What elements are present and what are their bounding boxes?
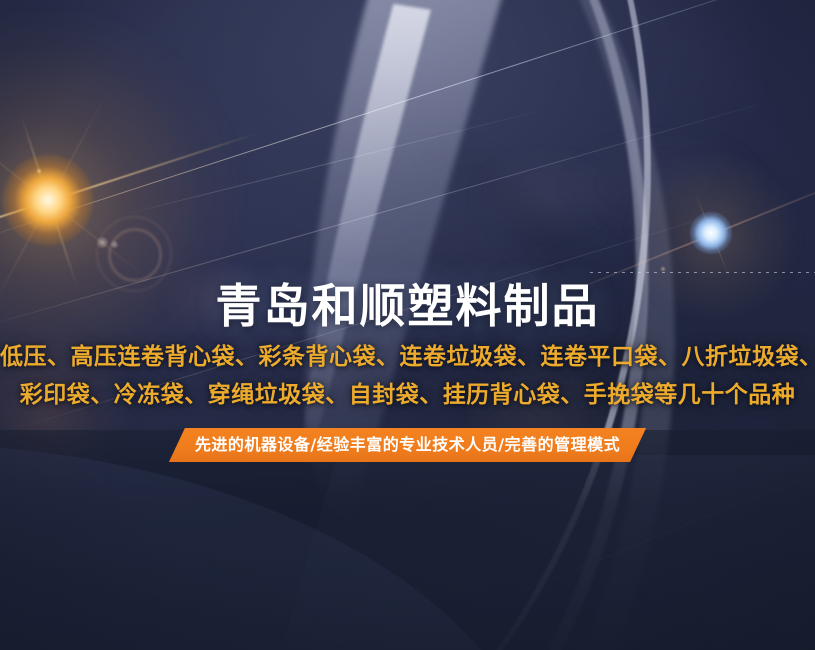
feature-badge-container: 先进的机器设备/经验丰富的专业技术人员/完善的管理模式 [0,428,815,462]
title-dotted-rule [590,272,815,273]
banner-content: 青岛和顺塑料制品 低压、高压连卷背心袋、彩条背心袋、连卷垃圾袋、连卷平口袋、八折… [0,0,815,650]
product-list-line-1: 低压、高压连卷背心袋、彩条背心袋、连卷垃圾袋、连卷平口袋、八折垃圾袋、 [0,338,815,376]
feature-badge: 先进的机器设备/经验丰富的专业技术人员/完善的管理模式 [169,428,646,462]
page-title: 青岛和顺塑料制品 [0,277,815,335]
product-list: 低压、高压连卷背心袋、彩条背心袋、连卷垃圾袋、连卷平口袋、八折垃圾袋、 彩印袋、… [0,338,815,414]
promo-banner: 青岛和顺塑料制品 低压、高压连卷背心袋、彩条背心袋、连卷垃圾袋、连卷平口袋、八折… [0,0,815,650]
product-list-line-2: 彩印袋、冷冻袋、穿绳垃圾袋、自封袋、挂历背心袋、手挽袋等几十个品种 [0,376,815,414]
